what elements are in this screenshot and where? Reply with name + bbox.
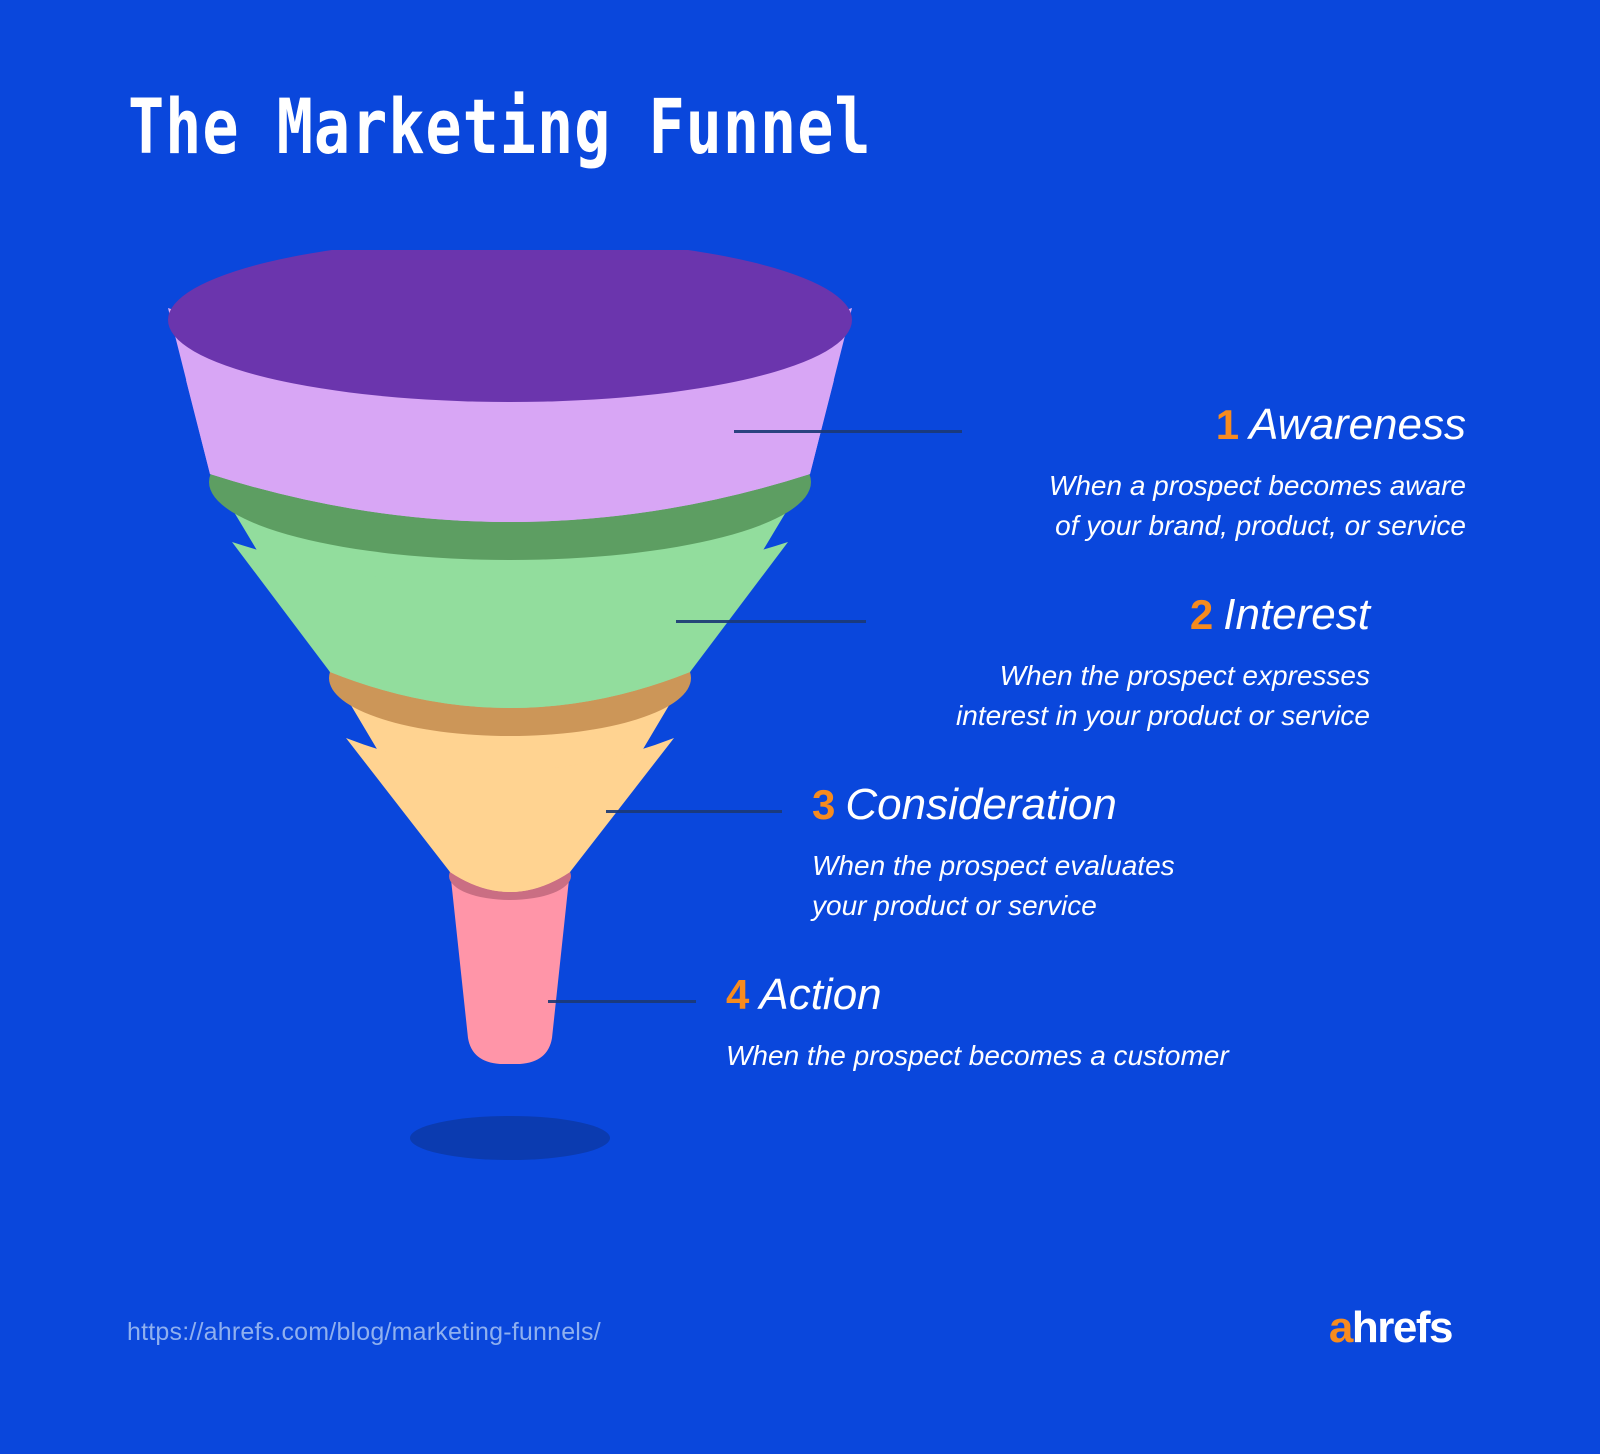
stage-heading: 3Consideration (812, 782, 1282, 828)
stage-heading: 4Action (726, 972, 1286, 1018)
stage-label: Action (759, 970, 881, 1019)
funnel-stage-awareness: 1Awareness When a prospect becomes aware… (996, 402, 1466, 546)
funnel-stage-action: 4Action When the prospect becomes a cust… (726, 972, 1286, 1076)
stage-number: 1 (1216, 401, 1239, 448)
stage-description: When the prospect expresses interest in … (900, 656, 1370, 736)
stage-label: Interest (1223, 590, 1370, 639)
stage-description: When a prospect becomes aware of your br… (996, 466, 1466, 546)
leader-line-awareness (734, 430, 962, 433)
stage-description: When the prospect becomes a customer (726, 1036, 1286, 1076)
funnel-shadow-ellipse (410, 1116, 610, 1160)
stage-number: 4 (726, 971, 749, 1018)
leader-line-consideration (606, 810, 782, 813)
logo-letter-a: a (1329, 1303, 1352, 1352)
ahrefs-logo: ahrefs (1329, 1306, 1452, 1350)
stage-heading: 2Interest (900, 592, 1370, 638)
funnel-stage-consideration: 3Consideration When the prospect evaluat… (812, 782, 1282, 926)
source-url[interactable]: https://ahrefs.com/blog/marketing-funnel… (127, 1318, 601, 1347)
stage-heading: 1Awareness (996, 402, 1466, 448)
stage-label: Consideration (845, 780, 1117, 829)
funnel-band-awareness (168, 250, 852, 522)
stage-number: 2 (1190, 591, 1213, 638)
leader-line-action (548, 1000, 696, 1003)
funnel-stage-interest: 2Interest When the prospect expresses in… (900, 592, 1370, 736)
page-title: The Marketing Funnel (128, 82, 872, 171)
stage-number: 3 (812, 781, 835, 828)
leader-line-interest (676, 620, 866, 623)
stage-description: When the prospect evaluates your product… (812, 846, 1282, 926)
infographic-canvas: The Marketing Funnel (0, 0, 1600, 1454)
stage-label: Awareness (1249, 400, 1466, 449)
logo-wordmark: hrefs (1352, 1303, 1452, 1352)
